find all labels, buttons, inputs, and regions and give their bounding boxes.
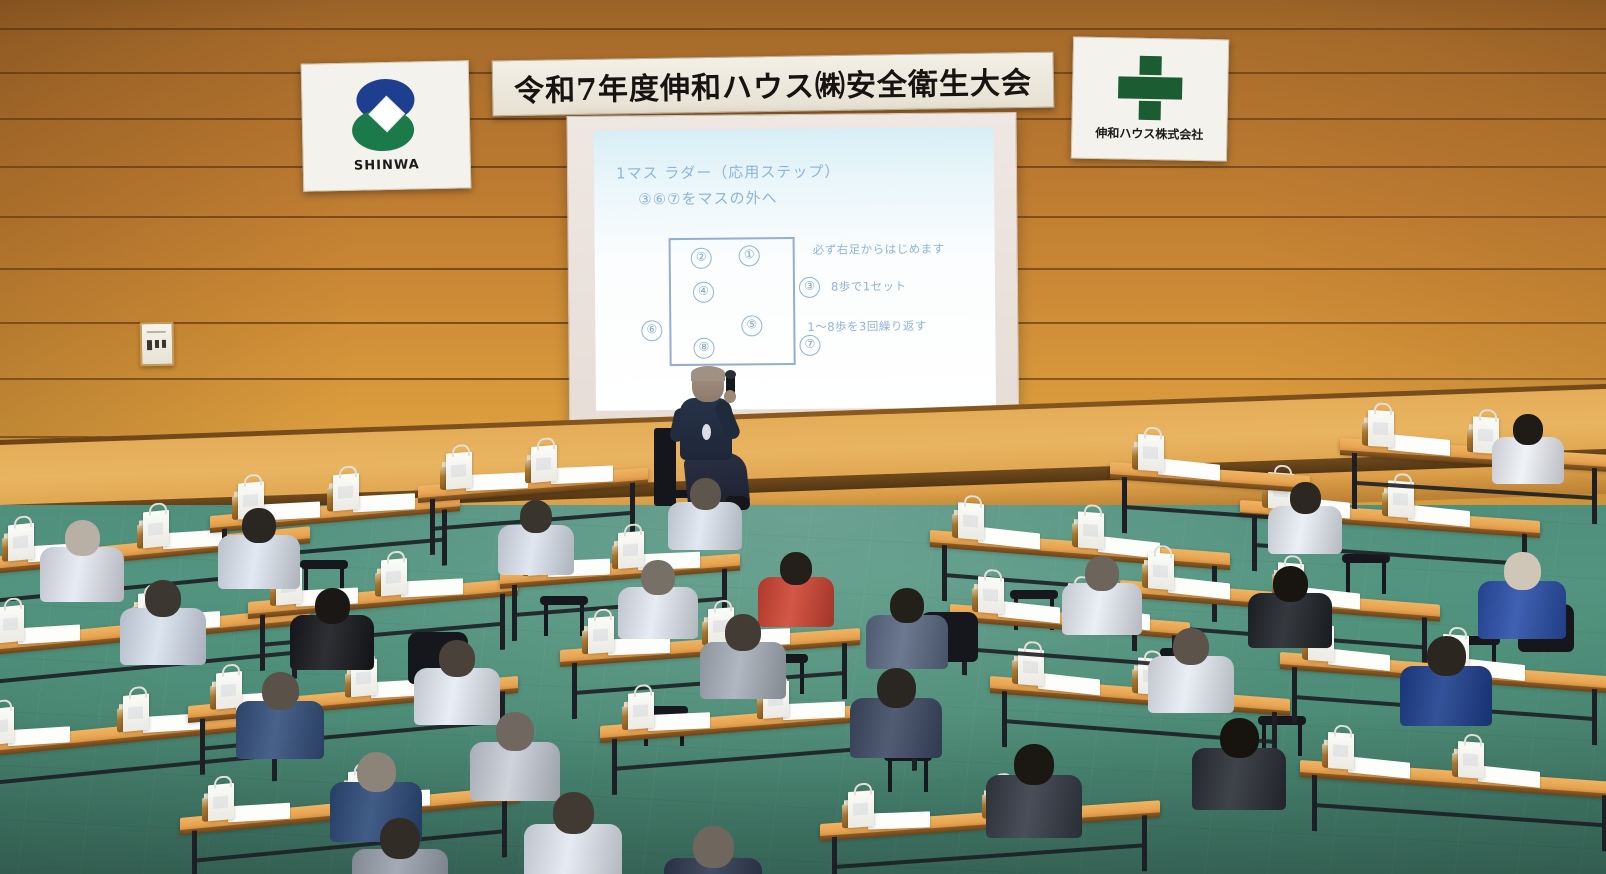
gift-bag [1328,732,1354,770]
attendee [352,818,448,874]
shinwa-8-logo-icon [349,78,423,153]
attendee [236,672,324,756]
gift-bag [208,783,234,821]
attendee [470,712,560,798]
attendee [1062,556,1142,632]
table-crossbar [962,647,1172,667]
table-leg [1142,815,1147,871]
gift-bag [1078,511,1104,549]
gift-bag [0,707,14,746]
presentation-laptop[interactable] [1000,510,1048,544]
attendee-head [553,792,594,834]
step-number-7: ⑦ [799,335,820,356]
main-title-text: 令和7年度伸和ハウス㈱安全衛生大会 [514,58,1033,110]
attendee [664,826,762,874]
step-number-3: ③ [799,277,820,298]
attendee-head [145,580,181,617]
shinwa-logo-banner: SHINWA [301,60,472,191]
attendee-head [1173,628,1209,665]
paper-handout [401,578,463,597]
shinwa-banner-caption: SHINWA [354,157,420,173]
attendee-head [877,668,916,708]
green-safety-cross-icon [1118,55,1183,120]
paper-handout [868,811,930,829]
attendee-head [1504,552,1541,590]
paper-handout [608,637,670,655]
slide-title-line-2: ③⑥⑦をマスの外へ [638,187,778,209]
gift-bag [978,576,1004,614]
table-leg [502,801,507,857]
attendee [986,744,1082,835]
slide-title-line-1: 1マス ラダー（応用ステップ） [616,161,841,184]
attendee [290,588,374,668]
gift-bag [958,502,984,540]
attendee-head [242,508,276,543]
gift-bag [1458,741,1484,779]
attendee-head [693,826,734,868]
attendee-head [357,752,396,792]
gift-bag [123,693,149,732]
attendee [414,640,500,722]
attendee-head [380,818,420,859]
attendee [498,500,574,572]
attendee [618,560,698,636]
step-number-8: ⑧ [693,338,714,359]
attendee-head [780,552,812,585]
attendee [40,520,124,600]
attendee-head [1427,636,1466,676]
attendee [1268,482,1342,552]
attendee-head [890,588,924,623]
attendee-head [1273,566,1308,602]
chair-post [888,758,892,792]
attendee [700,614,786,696]
attendee-head [439,640,475,677]
chair-post [924,758,928,792]
safety-banner-caption: 伸和ハウス株式会社 [1095,124,1203,143]
gymnasium-scene: 令和7年度伸和ハウス㈱安全衛生大会 SHINWA 伸和ハウス株式会社 1マス ラ… [0,0,1606,874]
attendee [1248,566,1332,646]
table-leg [842,643,847,699]
gift-bag [628,692,654,730]
slide-note-2: 8歩で1セット [831,278,907,295]
light-switch-panel[interactable] [140,322,175,367]
gift-bag [381,558,407,596]
gift-bag [333,473,359,511]
table-leg [1592,468,1597,524]
attendee-head [725,614,761,651]
attendee [668,478,742,548]
paper-handout [551,465,613,484]
gift-bag [531,445,557,483]
attendee [1492,414,1564,482]
attendee-head [520,500,552,533]
attendee-head [1014,744,1054,785]
gift-bag [143,510,169,549]
presenter-hand [724,390,736,403]
attendee-shading [866,615,948,669]
paper-handout [648,712,710,731]
table-leg [1602,795,1606,851]
gift-bag [0,605,24,644]
table-crossbar [1122,505,1292,521]
attendee [120,580,206,662]
attendee-head [1290,482,1321,514]
attendee-shading [218,535,300,589]
slide-note-1: 必ず右足からはじめます [813,241,945,258]
table-leg [1592,689,1597,745]
attendee-head [496,712,534,751]
gift-bag [446,452,472,490]
gift-bag [1138,434,1164,472]
presenter-hair [691,366,725,381]
attendee-head [65,520,100,556]
attendee [1478,552,1566,636]
attendee [1192,718,1286,807]
attendee-head [641,560,675,595]
gift-bag [848,790,874,828]
attendee-head [1513,414,1543,445]
gift-bag [1368,410,1394,448]
slide-content: 1マス ラダー（応用ステップ） ③⑥⑦をマスの外へ ② ① ④ ⑤ ⑧ ③ ⑥ … [594,127,996,410]
presenter-shirt-logo [702,424,711,440]
table-crossbar [1312,803,1602,827]
attendee [866,588,948,666]
slide-note-3: 1～8歩を3回繰り返す [807,318,927,335]
attendee-head [1085,556,1119,591]
step-number-5: ⑤ [741,315,762,336]
attendee [1400,636,1492,723]
attendee [218,508,300,586]
step-number-4: ④ [693,282,714,303]
step-number-2: ② [691,248,712,269]
ladder-grid-box [669,237,796,366]
safety-cross-banner: 伸和ハウス株式会社 [1071,37,1229,162]
attendee-head [1220,718,1259,758]
gift-bag [8,523,34,562]
attendee-head [315,588,350,624]
step-number-6: ⑥ [641,320,662,341]
attendee [1148,628,1234,710]
paper-handout [353,493,415,512]
step-number-1: ① [739,245,760,266]
gift-bag [1148,552,1174,590]
chair-post [1298,722,1302,756]
attendee-head [262,672,299,710]
gift-bag [588,616,614,654]
main-title-banner: 令和7年度伸和ハウス㈱安全衛生大会 [492,52,1055,117]
attendee-head [690,478,721,510]
paper-handout [466,472,528,491]
attendee [524,792,622,874]
paper-handout [783,701,845,720]
attendee [850,668,942,755]
table-leg [192,830,197,874]
